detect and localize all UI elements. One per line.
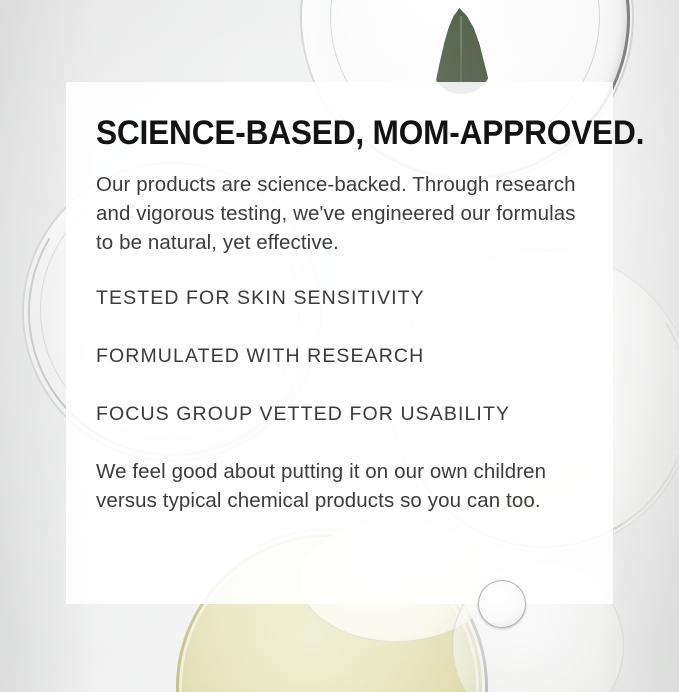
content-panel: SCIENCE-BASED, MOM-APPROVED. Our product…: [66, 82, 613, 604]
feature-list: TESTED FOR SKIN SENSITIVITY FORMULATED W…: [96, 286, 613, 426]
water-droplet-icon: [478, 580, 526, 628]
closing-paragraph: We feel good about putting it on our own…: [96, 457, 568, 515]
list-item: TESTED FOR SKIN SENSITIVITY: [96, 286, 613, 310]
product-claims-banner: SCIENCE-BASED, MOM-APPROVED. Our product…: [0, 0, 679, 692]
list-item: FOCUS GROUP VETTED FOR USABILITY: [96, 402, 613, 426]
intro-paragraph: Our products are science-backed. Through…: [96, 170, 576, 257]
page-title: SCIENCE-BASED, MOM-APPROVED.: [96, 115, 577, 151]
list-item: FORMULATED WITH RESEARCH: [96, 344, 613, 368]
